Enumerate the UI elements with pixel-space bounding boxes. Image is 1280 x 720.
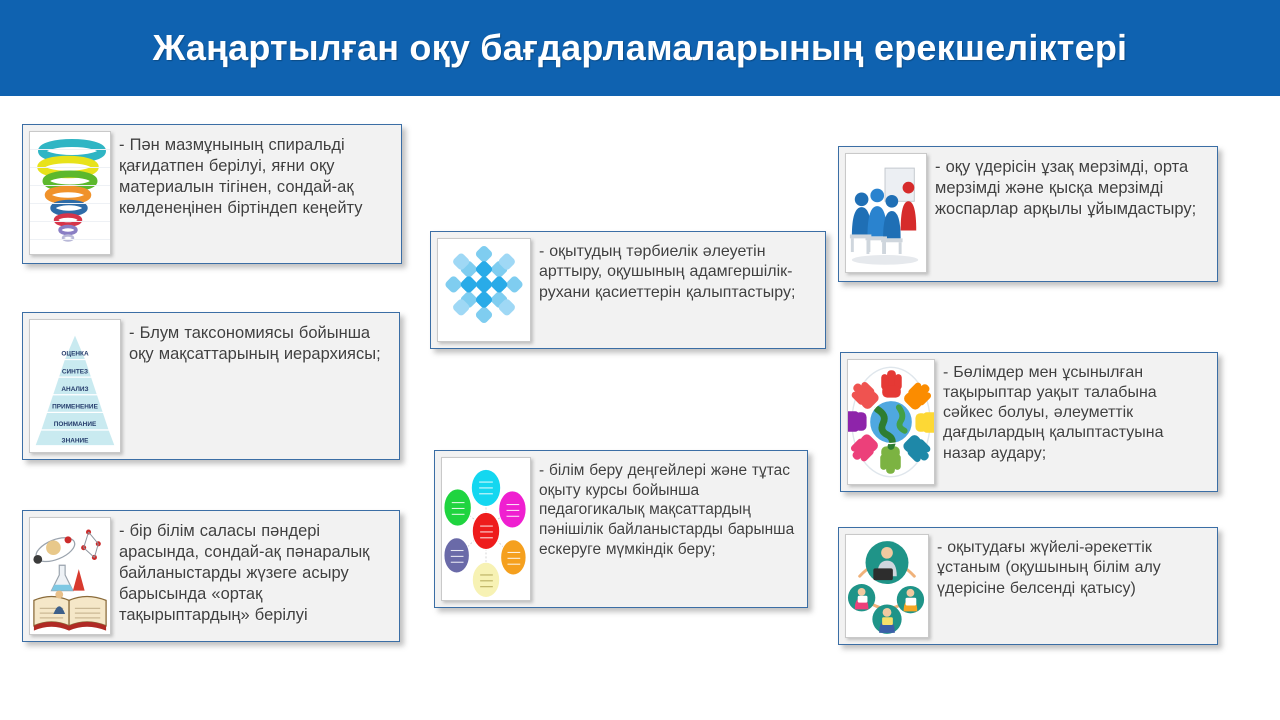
feature-card-text: - оқытудағы жүйелі-әрекеттік ұстаным (оқ… [929, 534, 1211, 603]
feature-card-bloom-taxonomy[interactable]: ОЦЕНКА СИНТЕЗ АНАЛИЗ ПРИМЕНЕНИЕ ПОНИМАНИ… [22, 312, 400, 460]
feature-card-text: - оқытудың тәрбиелік әлеуетін арттыру, о… [531, 238, 819, 307]
svg-text:ЗНАНИЕ: ЗНАНИЕ [62, 438, 90, 445]
feature-card-social-skills[interactable]: - Бөлімдер мен ұсынылған тақырыптар уақы… [840, 352, 1218, 492]
slide-header: Жаңартылған оқу бағдарламаларының ерекше… [0, 0, 1280, 96]
blue-woven-lattice-icon [437, 238, 531, 342]
feature-card-spiral-curriculum[interactable]: - Пән мазмұнының спиральді қағидатпен бе… [22, 124, 402, 264]
feature-card-active-learning[interactable]: - оқытудағы жүйелі-әрекеттік ұстаным (оқ… [838, 527, 1218, 645]
feature-card-text: - бір білім саласы пәндері арасында, сон… [111, 517, 393, 631]
svg-text:СИНТЕЗ: СИНТЕЗ [62, 368, 88, 375]
svg-text:ПОНИМАНИЕ: ПОНИМАНИЕ [54, 421, 97, 428]
rainbow-spiral-icon [29, 131, 111, 255]
feature-card-text: - Пән мазмұнының спиральді қағидатпен бе… [111, 131, 395, 223]
bloom-taxonomy-pyramid-icon: ОЦЕНКА СИНТЕЗ АНАЛИЗ ПРИМЕНЕНИЕ ПОНИМАНИ… [29, 319, 121, 453]
svg-text:ПРИМЕНЕНИЕ: ПРИМЕНЕНИЕ [52, 404, 98, 411]
people-circles-teamwork-icon [845, 534, 929, 638]
feature-card-lesson-planning[interactable]: - оқу үдерісін ұзақ мерзімді, орта мерзі… [838, 146, 1218, 282]
feature-card-moral-values[interactable]: - оқытудың тәрбиелік әлеуетін арттыру, о… [430, 231, 826, 349]
open-book-science-icon [29, 517, 111, 635]
globe-with-hands-icon [847, 359, 935, 485]
feature-card-text: - білім беру деңгейлері және тұтас оқыту… [531, 457, 801, 563]
svg-text:АНАЛИЗ: АНАЛИЗ [61, 386, 88, 393]
page-title: Жаңартылған оқу бағдарламаларының ерекше… [153, 27, 1127, 69]
colored-network-nodes-icon [441, 457, 531, 601]
feature-card-pedagogical-goals[interactable]: - білім беру деңгейлері және тұтас оқыту… [434, 450, 808, 608]
feature-card-cross-subject-links[interactable]: - бір білім саласы пәндері арасында, сон… [22, 510, 400, 642]
svg-text:ОЦЕНКА: ОЦЕНКА [61, 351, 89, 358]
classroom-presenter-icon [845, 153, 927, 273]
feature-card-text: - Блум таксономиясы бойынша оқу мақсатта… [121, 319, 393, 369]
feature-card-text: - Бөлімдер мен ұсынылған тақырыптар уақы… [935, 359, 1211, 468]
feature-card-text: - оқу үдерісін ұзақ мерзімді, орта мерзі… [927, 153, 1211, 224]
